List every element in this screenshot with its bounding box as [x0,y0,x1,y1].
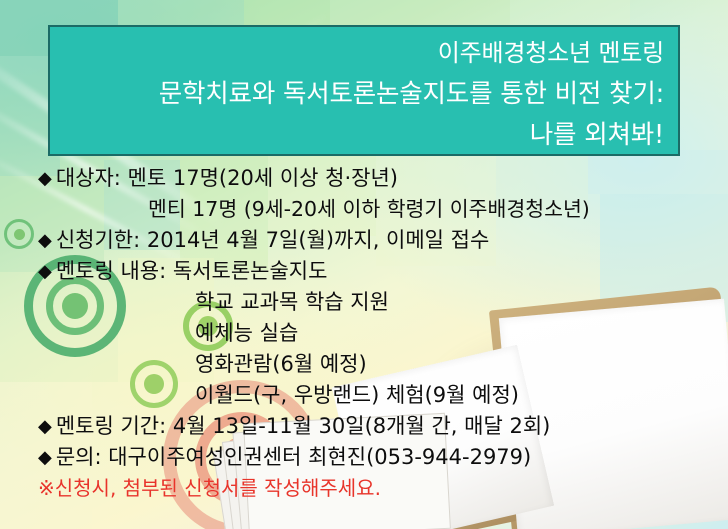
body-text-block: ◆대상자: 멘토 17명(20세 이상 청·장년)멘티 17명 (9세-20세 … [0,163,728,473]
bullet-line: ◆멘토링 내용: 독서토론논술지도 [0,256,728,287]
bullet-line: ◆대상자: 멘토 17명(20세 이상 청·장년) [0,163,728,194]
line-text: 멘티 17명 (9세-20세 이하 학령기 이주배경청소년) [148,197,590,221]
title-box: 이주배경청소년 멘토링 문학치료와 독서토론논술지도를 통한 비전 찾기: 나를… [48,25,680,156]
line-text: 신청기한: 2014년 4월 7일(월)까지, 이메일 접수 [56,228,489,252]
line-text: 영화관람(6월 예정) [195,352,367,376]
diamond-bullet-icon: ◆ [38,416,52,437]
line-text: 멘토링 기간: 4월 13일-11월 30일(8개월 간, 매달 2회) [56,414,551,438]
bullet-line: ◆신청기한: 2014년 4월 7일(월)까지, 이메일 접수 [0,225,728,256]
sub-line: 멘티 17명 (9세-20세 이하 학령기 이주배경청소년) [0,194,728,225]
title-line-3: 나를 외쳐봐! [64,115,664,156]
line-text: 멘토링 내용: 독서토론논술지도 [56,259,328,283]
line-text: 학교 교과목 학습 지원 [195,290,389,314]
diamond-bullet-icon: ◆ [38,168,52,189]
diamond-bullet-icon: ◆ [38,261,52,282]
sub-line: 학교 교과목 학습 지원 [0,287,728,318]
sub-line: 예체능 실습 [0,318,728,349]
diamond-bullet-icon: ◆ [38,230,52,251]
line-text: 이월드(구, 우방랜드) 체험(9월 예정) [195,383,519,407]
sub-line: 이월드(구, 우방랜드) 체험(9월 예정) [0,380,728,411]
sub-line: 영화관람(6월 예정) [0,349,728,380]
diamond-bullet-icon: ◆ [38,447,52,468]
bullet-line: ◆멘토링 기간: 4월 13일-11월 30일(8개월 간, 매달 2회) [0,411,728,442]
title-line-2: 문학치료와 독서토론논술지도를 통한 비전 찾기: [64,74,664,115]
bullet-line: ◆문의: 대구이주여성인권센터 최현진(053-944-2979) [0,442,728,473]
application-note: ※신청시, 첨부된 신청서를 작성해주세요. [38,472,381,501]
title-line-1: 이주배경청소년 멘토링 [64,33,664,74]
line-text: 예체능 실습 [195,321,298,345]
line-text: 대상자: 멘토 17명(20세 이상 청·장년) [56,166,398,190]
slide-canvas: 이주배경청소년 멘토링 문학치료와 독서토론논술지도를 통한 비전 찾기: 나를… [0,0,728,529]
line-text: 문의: 대구이주여성인권센터 최현진(053-944-2979) [56,445,531,469]
